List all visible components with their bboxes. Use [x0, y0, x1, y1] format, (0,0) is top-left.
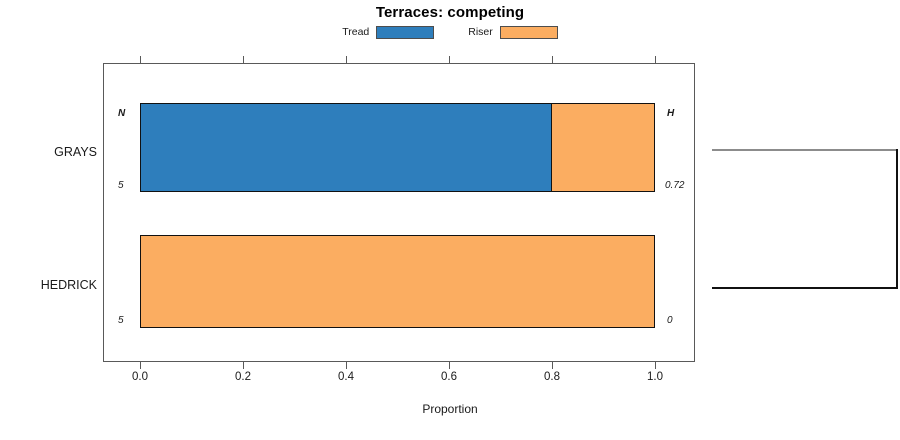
x-tick-label: 0.6: [441, 371, 457, 383]
x-tick-label: 0.0: [132, 371, 148, 383]
bar-segment-grays-tread[interactable]: [141, 104, 551, 191]
legend-entry-tread[interactable]: Tread: [342, 26, 434, 39]
dendrogram-branch-bottom: [712, 287, 898, 289]
bar-segment-hedrick-riser[interactable]: [141, 236, 654, 327]
legend-label-riser: Riser: [468, 27, 493, 38]
annotation-n-value-grays: 5: [118, 180, 124, 191]
legend-label-tread: Tread: [342, 27, 369, 38]
x-tick-mark: [346, 362, 347, 369]
chart-legend: Tread Riser: [0, 26, 900, 39]
x-tick-mark: [449, 56, 450, 63]
x-tick-mark: [552, 362, 553, 369]
x-tick-label: 0.4: [338, 371, 354, 383]
dendrogram-branch-top: [712, 149, 898, 151]
dendrogram-connector: [896, 149, 898, 289]
annotation-n-header-grays: N: [118, 108, 125, 119]
legend-swatch-riser: [500, 26, 558, 39]
bar-segment-grays-riser[interactable]: [551, 104, 654, 191]
annotation-h-value-hedrick: 0: [667, 315, 673, 326]
x-tick-mark: [243, 56, 244, 63]
row-label-hedrick: HEDRICK: [41, 278, 97, 292]
x-tick-mark: [140, 362, 141, 369]
bar-row-hedrick[interactable]: [140, 235, 655, 328]
chart-root: Terraces: competing Tread Riser 0.00.20.…: [0, 0, 900, 440]
x-tick-label: 0.2: [235, 371, 251, 383]
dendrogram-bracket: [700, 63, 900, 362]
row-label-grays: GRAYS: [54, 145, 97, 159]
x-axis-title: Proportion: [0, 402, 900, 416]
annotation-h-value-grays: 0.72: [665, 180, 684, 191]
x-tick-label: 0.8: [544, 371, 560, 383]
x-tick-mark: [243, 362, 244, 369]
legend-entry-riser[interactable]: Riser: [468, 26, 558, 39]
bar-row-grays[interactable]: [140, 103, 655, 192]
annotation-n-value-hedrick: 5: [118, 315, 124, 326]
x-tick-mark: [655, 56, 656, 63]
annotation-h-header-grays: H: [667, 108, 674, 119]
x-tick-mark: [655, 362, 656, 369]
chart-title: Terraces: competing: [0, 4, 900, 21]
x-tick-mark: [140, 56, 141, 63]
legend-swatch-tread: [376, 26, 434, 39]
x-tick-label: 1.0: [647, 371, 663, 383]
x-tick-mark: [346, 56, 347, 63]
x-tick-mark: [552, 56, 553, 63]
x-tick-mark: [449, 362, 450, 369]
